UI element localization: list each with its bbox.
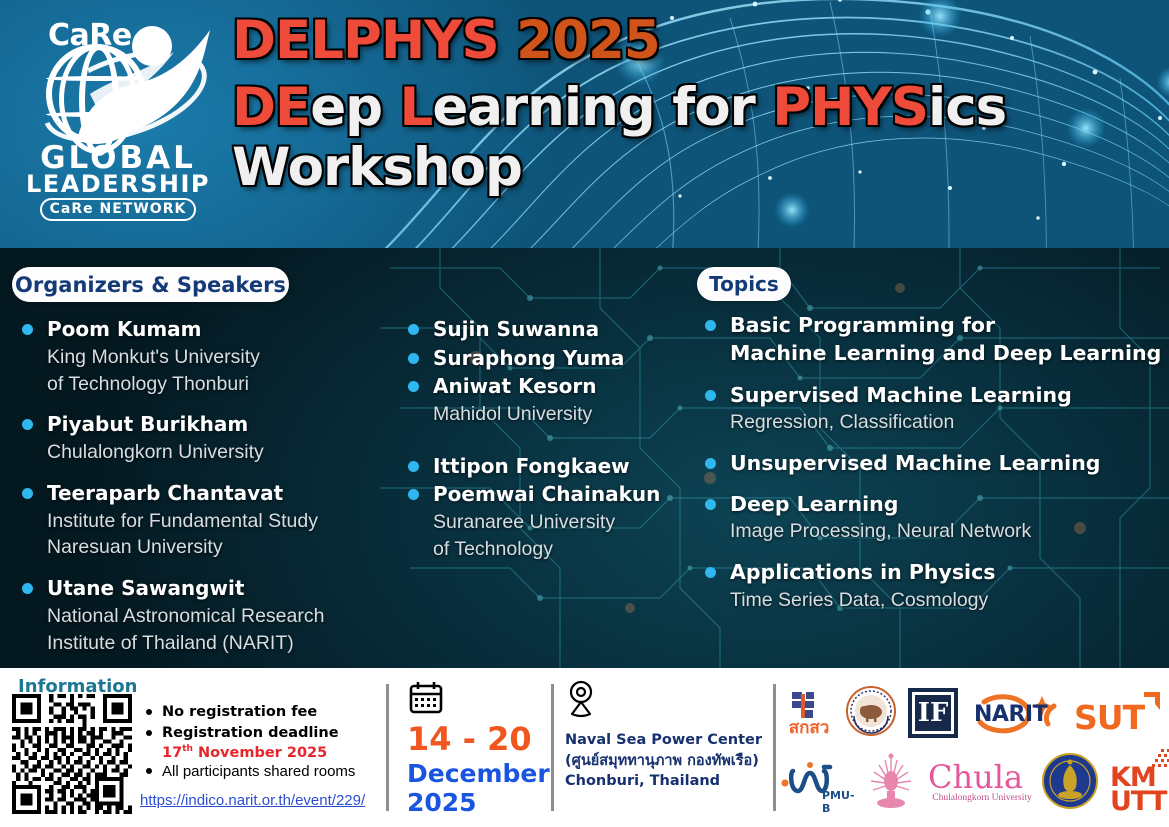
topic-entry: Unsupervised Machine Learning	[705, 449, 1165, 477]
speaker-name: Poom Kumam	[47, 316, 402, 344]
logo-care-network-badge: CaRe NETWORK	[40, 198, 196, 221]
registration-deadline-date: 17th November 2025	[144, 744, 384, 761]
title-line-1: DELPHYS 2025	[232, 14, 1162, 69]
bullet-icon	[146, 730, 152, 736]
title-l: L	[400, 77, 433, 138]
info-bullet-item: All participants shared rooms	[144, 761, 384, 783]
info-bullet-item: Registration deadline	[144, 723, 384, 744]
bullet-icon	[146, 768, 152, 774]
title-ics: ics	[928, 77, 1006, 138]
event-url-link[interactable]: https://indico.narit.or.th/event/229/	[140, 792, 365, 809]
speaker-entry: Aniwat Kesorn Mahidol University	[408, 373, 693, 428]
speaker-affiliation-line-1: King Monkut's University	[47, 344, 402, 371]
topic-entry: Supervised Machine Learning Regression, …	[705, 381, 1165, 436]
poster-title-block: DELPHYS 2025 DEep Learning for PHYSics W…	[232, 14, 1162, 196]
speaker-entry: Teeraparb Chantavat Institute for Fundam…	[22, 480, 402, 561]
speaker-name: Piyabut Burikham	[47, 411, 402, 439]
bullet-icon	[22, 488, 33, 499]
topic-entry: Applications in Physics Time Series Data…	[705, 558, 1165, 613]
footer-divider-3	[773, 684, 776, 811]
speaker-affiliation-line-1: Chulalongkorn University	[47, 439, 402, 466]
title-delphys: DELPHYS	[232, 10, 499, 71]
speaker-entry: Ittipon Fongkaew	[408, 453, 693, 481]
care-global-leadership-logo: CaRe GLOBAL LEADERSHIP CaRe NETWORK	[18, 8, 218, 220]
speaker-affiliation-line-2: of Technology Thonburi	[47, 371, 402, 398]
speaker-entry: Poom Kumam King Monkut's University of T…	[22, 316, 402, 397]
logo-leadership-text: LEADERSHIP	[18, 170, 218, 198]
poster-footer: Information No registration fee Registra…	[0, 668, 1169, 827]
title-year: 2025	[499, 10, 660, 71]
speaker-affiliation-line-1: Mahidol University	[433, 401, 693, 428]
speaker-name: Suraphong Yuma	[433, 345, 693, 373]
bullet-icon	[408, 461, 419, 472]
poster-header: CaRe GLOBAL LEADERSHIP CaRe NETWORK DELP…	[0, 0, 1169, 248]
poster-body: Organizers & Speakers Topics Poom Kumam …	[0, 248, 1169, 668]
title-de: DE	[232, 77, 310, 138]
speaker-affiliation-line-2: Institute of Thailand (NARIT)	[47, 630, 402, 657]
speaker-name: Ittipon Fongkaew	[433, 453, 693, 481]
footer-divider-1	[386, 684, 389, 811]
bullet-icon	[408, 353, 419, 364]
organizers-column-1: Poom Kumam King Monkut's University of T…	[22, 316, 402, 668]
deadline-day: 17	[162, 745, 182, 761]
speaker-affiliation-line-1: Institute for Fundamental Study	[47, 508, 402, 535]
speaker-name: Poemwai Chainakun	[433, 481, 693, 509]
topic-entry: Basic Programming for Machine Learning a…	[705, 311, 1165, 368]
info-text: No registration fee	[162, 704, 317, 720]
info-bullet-item: No registration fee	[144, 702, 384, 723]
topic-title-line-1: Supervised Machine Learning	[730, 381, 1165, 409]
bullet-icon	[146, 709, 152, 715]
speaker-affiliation-line-1: Suranaree University	[433, 509, 693, 536]
speaker-name: Utane Sawangwit	[47, 575, 402, 603]
speaker-entry: Sujin Suwanna	[408, 316, 693, 344]
speaker-entry: Utane Sawangwit National Astronomical Re…	[22, 575, 402, 656]
speaker-name: Teeraparb Chantavat	[47, 480, 402, 508]
bullet-icon	[22, 324, 33, 335]
title-line-3: Workshop	[232, 141, 1162, 196]
speaker-affiliation-line-2: of Technology	[433, 536, 693, 563]
speaker-entry: Piyabut Burikham Chulalongkorn Universit…	[22, 411, 402, 466]
deadline-ordinal-suffix: th	[182, 744, 193, 754]
topics-column: Basic Programming for Machine Learning a…	[705, 311, 1165, 626]
info-text: Registration deadline	[162, 725, 339, 741]
topic-subtitle: Time Series Data, Cosmology	[730, 587, 1165, 614]
speaker-affiliation-line-1: National Astronomical Research	[47, 603, 402, 630]
speaker-name: Aniwat Kesorn	[433, 373, 693, 401]
deadline-month-year: November 2025	[193, 745, 327, 761]
registration-info-list: No registration fee Registration deadlin…	[144, 702, 384, 782]
title-earning-for: earning for	[432, 77, 772, 138]
poster-root: CaRe GLOBAL LEADERSHIP CaRe NETWORK DELP…	[0, 0, 1169, 827]
title-ep: ep	[310, 77, 399, 138]
organizers-section-label: Organizers & Speakers	[12, 267, 289, 302]
footer-divider-2	[551, 684, 554, 811]
topic-title-line-1: Deep Learning	[730, 490, 1165, 518]
bullet-icon	[705, 499, 716, 510]
topic-title-line-2: Machine Learning and Deep Learning	[730, 339, 1165, 367]
bullet-icon	[408, 324, 419, 335]
topic-title-line-1: Basic Programming for	[730, 311, 1165, 339]
organizers-column-2: Sujin Suwanna Suraphong Yuma Aniwat Keso…	[408, 316, 693, 564]
title-line-2: DEep Learning for PHYSics	[232, 81, 1162, 136]
topic-entry: Deep Learning Image Processing, Neural N…	[705, 490, 1165, 545]
speaker-name: Sujin Suwanna	[433, 316, 693, 344]
speaker-affiliation-line-2: Naresuan University	[47, 534, 402, 561]
column-spacer	[408, 429, 693, 453]
bullet-icon	[705, 320, 716, 331]
qr-code-icon[interactable]	[12, 694, 132, 814]
bullet-icon	[705, 390, 716, 401]
speaker-entry: Poemwai Chainakun Suranaree University o…	[408, 481, 693, 562]
topic-subtitle: Regression, Classification	[730, 409, 1165, 436]
topic-subtitle: Image Processing, Neural Network	[730, 518, 1165, 545]
topic-title-line-1: Applications in Physics	[730, 558, 1165, 586]
topics-section-label: Topics	[697, 267, 791, 301]
bullet-icon	[705, 458, 716, 469]
title-phys: PHYS	[772, 77, 928, 138]
topic-title-line-1: Unsupervised Machine Learning	[730, 449, 1165, 477]
info-text: All participants shared rooms	[162, 763, 355, 780]
speaker-entry: Suraphong Yuma	[408, 345, 693, 373]
